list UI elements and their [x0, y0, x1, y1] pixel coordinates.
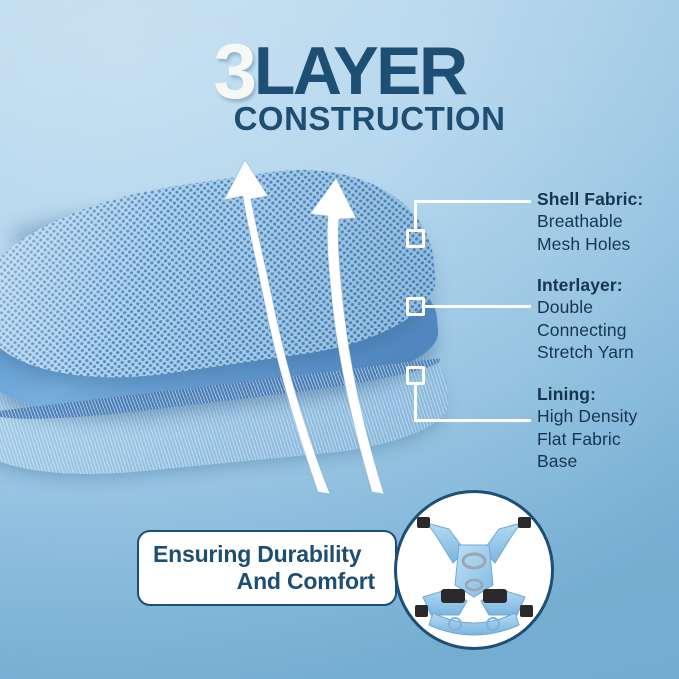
callout-label-interlayer: Interlayer: Double Connecting Stretch Ya… — [537, 274, 634, 364]
infographic-poster: 3 LAYER CONSTRUCTION Shell Fabric: — [0, 0, 679, 679]
callout-line2-shell-fabric: Mesh Holes — [537, 234, 630, 254]
callout-marker-interlayer[interactable] — [406, 297, 425, 316]
callout-leader-lining-horizontal — [414, 419, 531, 422]
callout-line1-interlayer: Double — [537, 297, 593, 317]
title-number: 3 — [213, 36, 253, 108]
callout-leader-lining-vertical — [414, 383, 417, 422]
callout-line1-shell-fabric: Breathable — [537, 211, 623, 231]
title-word: LAYER — [254, 37, 466, 105]
callout-heading-lining: Lining: — [537, 383, 637, 405]
callout-label-lining: Lining: High Density Flat Fabric Base — [537, 383, 637, 473]
callout-line1-lining: High Density — [537, 406, 637, 426]
callout-line2-lining: Flat Fabric — [537, 429, 621, 449]
callout-heading-interlayer: Interlayer: — [537, 274, 634, 296]
callout-heading-shell-fabric: Shell Fabric: — [537, 188, 643, 210]
callout-line3-lining: Base — [537, 451, 577, 471]
callout-line3-interlayer: Stretch Yarn — [537, 342, 634, 362]
callout-leader-interlayer-horizontal — [425, 305, 531, 308]
callout-line2-interlayer: Connecting — [537, 320, 627, 340]
callout-leader-shell-horizontal — [414, 200, 531, 203]
title-block: 3 LAYER CONSTRUCTION — [0, 34, 679, 135]
callout-leader-shell-vertical — [414, 200, 417, 232]
callout-label-shell-fabric: Shell Fabric: Breathable Mesh Holes — [537, 188, 643, 255]
title-main-row: 3 LAYER — [0, 34, 679, 106]
